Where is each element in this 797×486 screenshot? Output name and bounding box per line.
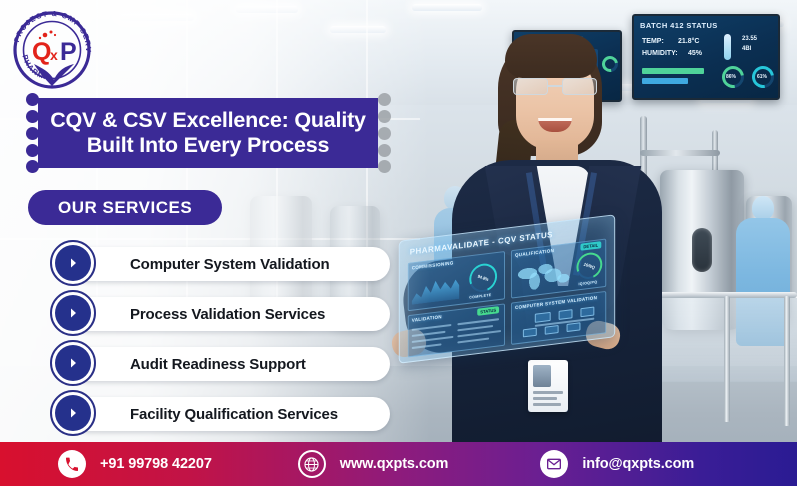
monitor-reading-1: 23.55: [742, 36, 757, 42]
service-pill[interactable]: Facility Qualification Services: [72, 397, 390, 431]
badge-photo: [533, 365, 551, 387]
chevron-icon-inner: [55, 395, 91, 431]
chevron-right-icon[interactable]: [50, 340, 96, 386]
service-pill[interactable]: Computer System Validation: [72, 247, 390, 281]
chevron-icon-inner: [55, 245, 91, 281]
service-label: Audit Readiness Support: [130, 356, 306, 373]
ceiling-light: [120, 14, 194, 21]
monitor-temp-label: TEMP:: [642, 38, 664, 45]
contact-footer-bar: +91 99798 42207 www.qxpts.com: [0, 442, 797, 486]
monitor-temp-value: 21.8°C: [678, 38, 699, 45]
company-logo: PROJECT & GMP SERVICES PRIVATE LIMITED P…: [8, 6, 96, 94]
monitor-gauge-value: 86%: [726, 74, 736, 80]
envelope-icon: [540, 450, 568, 478]
glasses-lens-left: [513, 78, 548, 95]
monitor-reading-2: 4Bl: [742, 46, 751, 52]
flow-node: [559, 309, 573, 320]
safety-glasses-icon: [513, 78, 597, 95]
ceiling-light: [236, 6, 298, 13]
chevron-right-icon[interactable]: [50, 290, 96, 336]
flow-node: [545, 325, 559, 335]
panel-donut-value: 16/NQ: [578, 260, 600, 272]
flow-node: [567, 322, 581, 332]
chevron-icon-inner: [55, 345, 91, 381]
service-item-computer-system-validation[interactable]: Computer System Validation: [50, 240, 390, 290]
panel-donut-value: 94.8%: [471, 272, 495, 284]
service-item-facility-qualification-services[interactable]: Facility Qualification Services: [50, 390, 390, 440]
services-list: Computer System Validation Process Valid…: [50, 240, 390, 440]
marketing-banner: BATCH 412 STATUS BATCH 412 STATUS TEMP: …: [0, 0, 797, 486]
headline-line-1: CQV & CSV Excellence: Quality: [50, 108, 366, 133]
svg-text:P: P: [60, 38, 77, 66]
operator-head: [752, 196, 774, 220]
flow-node: [535, 312, 551, 323]
service-item-process-validation-services[interactable]: Process Validation Services: [50, 290, 390, 340]
badge-line: [533, 397, 557, 400]
railing-post: [724, 296, 730, 422]
badge-line: [533, 391, 563, 394]
email-address: info@qxpts.com: [582, 456, 694, 472]
chevron-right-icon[interactable]: [50, 390, 96, 436]
thermometer-icon: [724, 34, 731, 60]
contact-website[interactable]: www.qxpts.com: [298, 450, 449, 478]
phone-number: +91 99798 42207: [100, 456, 212, 472]
headline-scallop-left: [26, 98, 38, 168]
website-url: www.qxpts.com: [340, 456, 449, 472]
id-badge: [528, 360, 568, 412]
glasses-bridge: [548, 85, 562, 87]
wall-monitor-right: BATCH 412 STATUS TEMP: 21.8°C HUMIDITY: …: [632, 14, 780, 100]
service-pill[interactable]: Process Validation Services: [72, 297, 390, 331]
service-item-audit-readiness-support[interactable]: Audit Readiness Support: [50, 340, 390, 390]
headline-scallop-right: [378, 98, 390, 168]
globe-icon: [298, 450, 326, 478]
process-pipe: [640, 150, 720, 156]
contact-phone[interactable]: +91 99798 42207: [58, 450, 212, 478]
phone-icon: [58, 450, 86, 478]
monitor-gauge-value: 61%: [757, 74, 767, 80]
flow-node: [523, 328, 537, 338]
hair-fringe: [505, 34, 597, 78]
ceiling-light: [330, 26, 386, 33]
glasses-lens-right: [562, 78, 597, 95]
svg-text:x: x: [50, 47, 58, 63]
tank-sight-glass: [692, 228, 712, 272]
monitor-gauge: [599, 53, 621, 75]
service-label: Facility Qualification Services: [130, 406, 338, 423]
chevron-icon-inner: [55, 295, 91, 331]
ceiling-light: [412, 4, 482, 11]
chevron-right-icon[interactable]: [50, 240, 96, 286]
service-label: Process Validation Services: [130, 306, 325, 323]
flow-node: [580, 306, 594, 317]
section-badge-label: OUR SERVICES: [58, 198, 192, 218]
contact-email[interactable]: info@qxpts.com: [540, 450, 694, 478]
section-badge-our-services: OUR SERVICES: [28, 190, 222, 225]
railing-post: [784, 296, 790, 426]
headline-line-2: Built Into Every Process: [87, 133, 330, 158]
monitor-humidity-label: HUMIDITY:: [642, 50, 678, 57]
service-pill[interactable]: Audit Readiness Support: [72, 347, 390, 381]
monitor-progress-bar: [642, 68, 704, 74]
headline-banner: CQV & CSV Excellence: Quality Built Into…: [28, 98, 388, 168]
service-label: Computer System Validation: [130, 256, 329, 273]
monitor-humidity-value: 45%: [688, 50, 702, 57]
monitor-progress-bar: [642, 78, 688, 84]
monitor-title: BATCH 412 STATUS: [640, 21, 718, 30]
svg-text:Q: Q: [32, 38, 51, 66]
badge-line: [533, 403, 561, 406]
headline-body: CQV & CSV Excellence: Quality Built Into…: [38, 98, 378, 168]
